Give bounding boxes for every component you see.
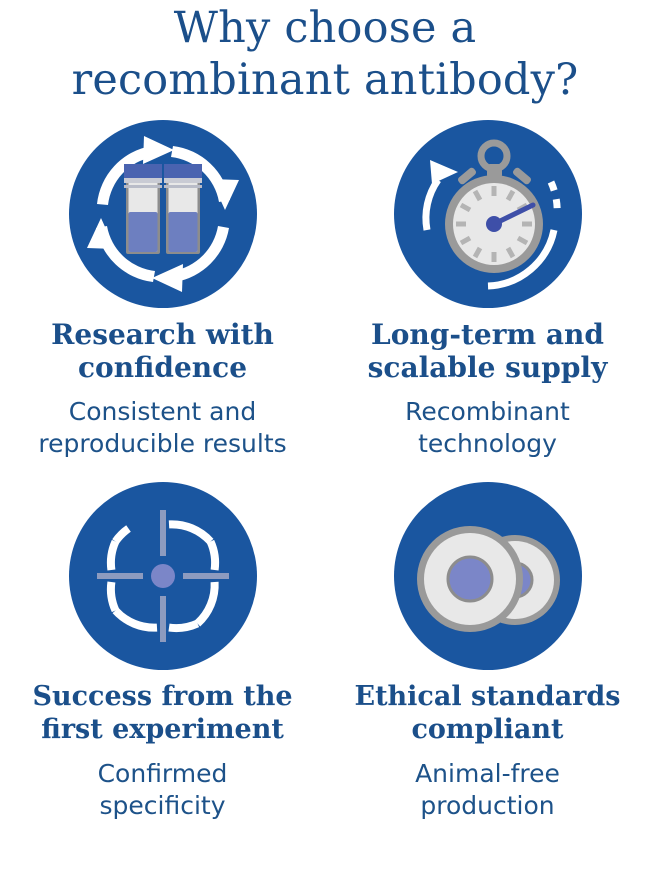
benefits-grid: Research with confidence Consistent and … (0, 120, 650, 822)
page-title-line-1: Why choose a (0, 2, 650, 54)
benefit-card-long-term-scalable-supply: Long-term and scalable supply Recombinan… (325, 120, 650, 460)
benefits-row-bottom: Success from the first experiment Confir… (0, 482, 650, 822)
vials-recycle-icon (69, 120, 257, 308)
benefit-card-heading: Long-term and scalable supply (364, 318, 612, 384)
benefit-card-subtitle: Animal-free production (413, 758, 562, 822)
page-title: Why choose a recombinant antibody? (0, 0, 650, 106)
benefits-row-top: Research with confidence Consistent and … (0, 120, 650, 460)
crosshair-target-icon (69, 482, 257, 670)
benefit-card-subtitle: Confirmed specificity (96, 758, 230, 822)
page-title-line-2: recombinant antibody? (0, 54, 650, 106)
benefit-card-heading: Ethical standards compliant (350, 680, 624, 746)
stopwatch-icon (394, 120, 582, 308)
benefit-card-heading: Success from the first experiment (28, 680, 296, 746)
infographic-root: Why choose a recombinant antibody? (0, 0, 650, 889)
benefit-card-ethical-standards-compliant: Ethical standards compliant Animal-free … (325, 482, 650, 822)
benefit-card-research-with-confidence: Research with confidence Consistent and … (0, 120, 325, 460)
benefit-card-success-first-experiment: Success from the first experiment Confir… (0, 482, 325, 822)
benefit-card-subtitle: Recombinant technology (403, 396, 572, 460)
benefit-card-subtitle: Consistent and reproducible results (36, 396, 288, 460)
benefit-card-heading: Research with confidence (47, 318, 278, 384)
two-cells-icon (394, 482, 582, 670)
